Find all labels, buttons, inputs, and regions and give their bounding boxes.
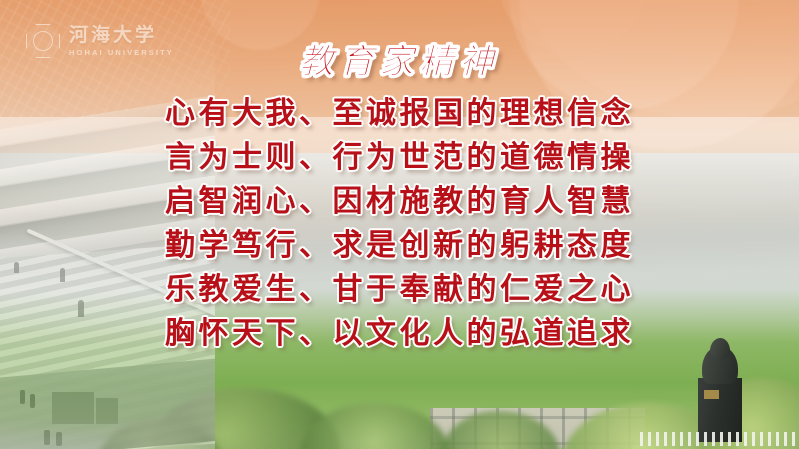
spirit-line: 乐教爱生、甘于奉献的仁爱之心: [165, 268, 634, 312]
person-silhouette: [44, 430, 50, 445]
interior-furniture: [52, 392, 94, 424]
page-title: 教育家精神: [300, 34, 500, 83]
white-picket-fence: [640, 432, 799, 446]
poster-text-block: 教育家精神 心有大我、至诚报国的理想信念 言为士则、行为世范的道德情操 启智润心…: [0, 34, 799, 356]
spirit-line: 胸怀天下、以文化人的弘道追求: [165, 312, 634, 356]
spirit-line: 言为士则、行为世范的道德情操: [165, 136, 634, 180]
tree-canopy: [300, 403, 450, 449]
statue-plaque: [704, 390, 719, 399]
spirit-line: 勤学笃行、求是创新的躬耕态度: [165, 224, 634, 268]
person-silhouette: [20, 390, 25, 404]
spirit-line: 启智润心、因材施教的育人智慧: [165, 180, 634, 224]
poster-canvas: 河海大学 HOHAI UNIVERSITY 教育家精神 心有大我、至诚报国的理想…: [0, 0, 799, 449]
interior-furniture: [96, 398, 118, 424]
person-silhouette: [56, 432, 62, 446]
spirit-line: 心有大我、至诚报国的理想信念: [165, 92, 634, 136]
person-silhouette: [30, 394, 35, 408]
